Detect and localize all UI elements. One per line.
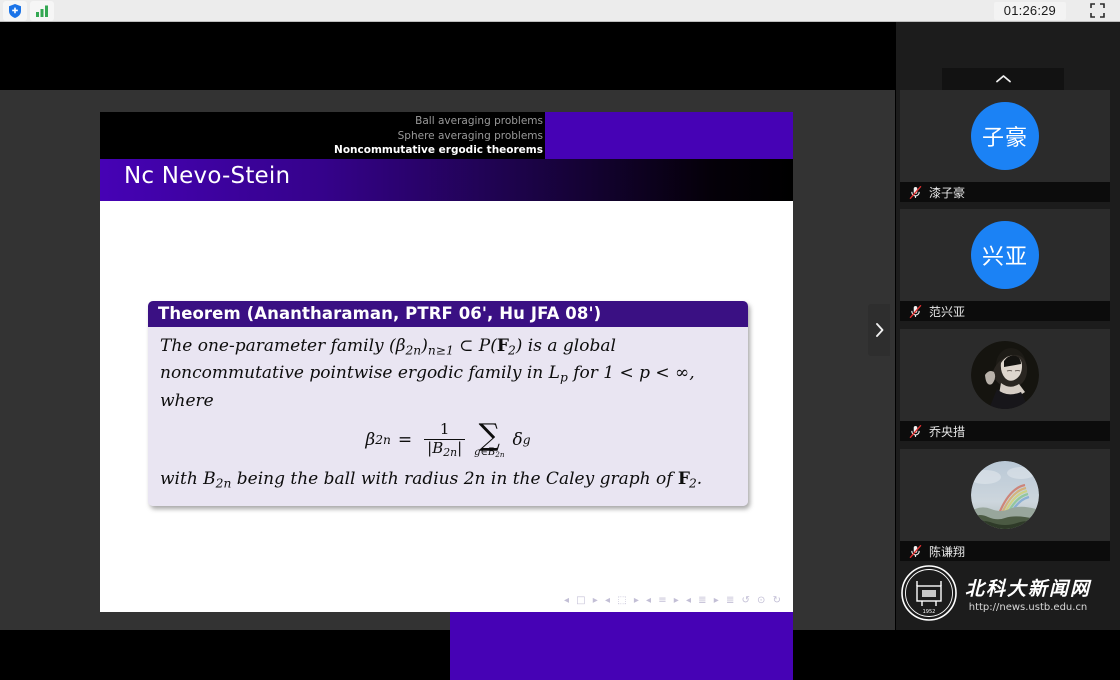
eq-lhs-beta: β — [365, 430, 375, 450]
avatar: 兴亚 — [971, 221, 1039, 289]
theorem-l1-text-a: The one-parameter family ( — [160, 336, 396, 356]
slide-header-purple-block — [545, 112, 793, 159]
theorem-content: The one-parameter family (β2n)n≥1 ⊂ P(F2… — [148, 327, 748, 506]
theorem-block: Theorem (Anantharaman, PTRF 06', Hu JFA … — [148, 301, 748, 506]
participant-name-bar: 漆子豪 — [900, 182, 1110, 202]
participant-video-area[interactable] — [900, 329, 1110, 421]
mic-muted-icon — [908, 544, 923, 559]
avatar-rainbow-image — [971, 461, 1039, 529]
participants-sidebar: 子豪 漆子豪 兴亚 — [896, 22, 1120, 630]
theorem-title: Theorem (Anantharaman, PTRF 06', Hu JFA … — [148, 301, 748, 327]
slide-header-bar: Ball averaging problems Sphere averaging… — [100, 112, 793, 159]
ustb-seal-icon: 1952 — [900, 564, 958, 622]
eq-den-sub: 2n — [443, 446, 457, 459]
slide-nav-line-2: Sphere averaging problems — [334, 129, 543, 144]
avatar — [971, 341, 1039, 409]
stage-top-band — [0, 22, 895, 90]
mic-muted-icon — [908, 185, 923, 200]
slide-title-bar: Nc Nevo-Stein — [100, 159, 793, 201]
slide-section-nav: Ball averaging problems Sphere averaging… — [334, 114, 543, 158]
participant-name: 乔央措 — [929, 423, 965, 440]
shared-slide[interactable]: Ball averaging problems Sphere averaging… — [100, 112, 793, 612]
participant-video-area[interactable] — [900, 449, 1110, 541]
eq-delta: δ — [512, 430, 522, 450]
eq-fraction: 1 |B2n| — [424, 422, 465, 458]
slide-title: Nc Nevo-Stein — [124, 163, 290, 189]
theorem-line-2: noncommutative pointwise ergodic family … — [160, 362, 736, 389]
theorem-l2-text-b: for 1 < p < ∞, — [568, 363, 695, 383]
theorem-l1-F-sub: 2 — [508, 343, 516, 357]
meeting-timer: 01:26:29 — [994, 2, 1066, 20]
browser-toolbar: 01:26:29 — [0, 0, 1120, 22]
avatar — [971, 461, 1039, 529]
theorem-l1-beta: β — [396, 336, 406, 356]
slide-nav-line-1: Ball averaging problems — [334, 114, 543, 129]
theorem-l1-nsub: n≥1 — [428, 343, 454, 357]
avatar-portrait-image — [971, 341, 1039, 409]
signal-bars-icon[interactable] — [30, 1, 54, 21]
participant-video-area[interactable]: 子豪 — [900, 90, 1110, 182]
theorem-l4-sub: 2n — [216, 477, 232, 491]
participant-tile[interactable]: 陈谦翔 — [900, 449, 1110, 561]
participant-tile[interactable]: 乔央措 — [900, 329, 1110, 441]
participant-name: 漆子豪 — [929, 184, 965, 201]
avatar: 子豪 — [971, 102, 1039, 170]
chevron-right-icon[interactable] — [868, 304, 890, 356]
beamer-navigation-bar[interactable]: ◂ □ ▸ ◂ ⬚ ▸ ◂ ≡ ▸ ◂ ≣ ▸ ≣ ↺ ⊙ ↻ — [100, 595, 793, 606]
participant-name-bar: 陈谦翔 — [900, 541, 1110, 561]
mic-muted-icon — [908, 424, 923, 439]
slide-body: Theorem (Anantharaman, PTRF 06', Hu JFA … — [100, 201, 793, 612]
theorem-line-4: with B2n being the ball with radius 2n i… — [160, 468, 736, 495]
slide-nav-line-3: Noncommutative ergodic theorems — [334, 143, 543, 158]
eq-sum-limit: g∈B2n — [474, 448, 504, 458]
slide-bottom-strip — [450, 612, 793, 680]
equation-row: β2n = 1 |B2n| ∑ g∈B2n δg — [365, 422, 530, 458]
eq-sum-limit-sub: 2n — [495, 450, 504, 459]
theorem-l4-text-b: being the ball with radius 2n in the Cal… — [231, 469, 678, 489]
participant-video-area[interactable]: 兴亚 — [900, 209, 1110, 301]
eq-lhs-sub: 2n — [375, 433, 391, 447]
eq-sum-limit-a: g∈B — [474, 447, 495, 458]
participant-name-bar: 范兴亚 — [900, 301, 1110, 321]
theorem-l4-text-a: with B — [160, 469, 216, 489]
theorem-l1-text-d: ) is a global — [516, 336, 616, 356]
eq-den-open: |B — [427, 439, 443, 457]
watermark-text: 北科大新闻网 http://news.ustb.edu.cn — [965, 574, 1091, 613]
theorem-equation: β2n = 1 |B2n| ∑ g∈B2n δg — [160, 422, 736, 458]
theorem-line-3: where — [160, 390, 736, 413]
participant-name: 陈谦翔 — [929, 543, 965, 560]
theorem-l2-text-a: noncommutative pointwise ergodic family … — [160, 363, 560, 383]
theorem-l2-p-sub: p — [560, 371, 568, 385]
eq-summation: ∑ g∈B2n — [474, 422, 504, 458]
chevron-up-icon[interactable] — [942, 68, 1064, 90]
theorem-l1-beta-sub: 2n — [406, 343, 422, 357]
participant-tile[interactable]: 兴亚 范兴亚 — [900, 209, 1110, 321]
theorem-line-1: The one-parameter family (β2n)n≥1 ⊂ P(F2… — [160, 335, 736, 362]
theorem-l1-blackboard-F: F — [497, 336, 508, 356]
eq-delta-sub: g — [523, 433, 531, 447]
eq-frac-denominator: |B2n| — [424, 441, 465, 458]
participant-name-bar: 乔央措 — [900, 421, 1110, 441]
theorem-l4-F-sub: 2 — [689, 477, 697, 491]
theorem-l4-period: . — [697, 469, 702, 489]
eq-den-close: | — [457, 439, 462, 457]
watermark-title: 北科大新闻网 — [965, 574, 1091, 601]
participant-name: 范兴亚 — [929, 303, 965, 320]
svg-text:1952: 1952 — [923, 609, 936, 615]
fullscreen-icon[interactable] — [1080, 1, 1114, 21]
theorem-l1-text-c: ⊂ P( — [454, 336, 497, 356]
participant-tile[interactable]: 子豪 漆子豪 — [900, 90, 1110, 202]
watermark-url: http://news.ustb.edu.cn — [969, 602, 1088, 613]
broadcast-watermark: 1952 北科大新闻网 http://news.ustb.edu.cn — [900, 562, 1114, 624]
shield-icon[interactable] — [3, 1, 27, 21]
theorem-l4-blackboard-F: F — [678, 469, 689, 489]
theorem-l1-paren: ) — [421, 336, 428, 356]
eq-equals: = — [398, 430, 412, 450]
eq-sum-symbol: ∑ — [479, 422, 500, 449]
mic-muted-icon — [908, 304, 923, 319]
eq-frac-numerator: 1 — [437, 422, 453, 438]
meeting-stage: Ball averaging problems Sphere averaging… — [0, 22, 1120, 630]
